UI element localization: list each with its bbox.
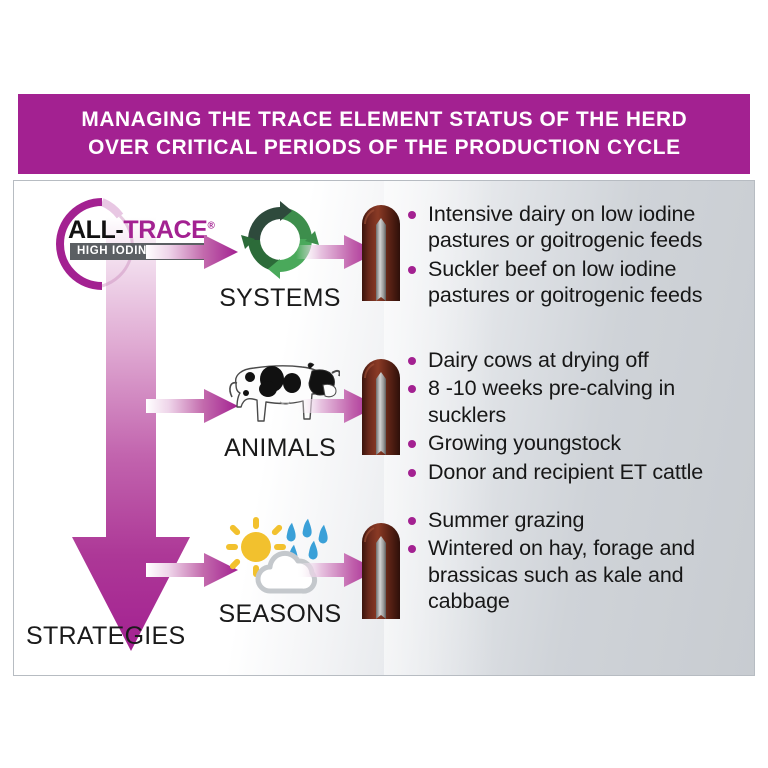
bolus-capsule-icon: [362, 205, 400, 303]
header-line-1: MANAGING THE TRACE ELEMENT STATUS OF THE…: [81, 106, 687, 134]
systems-label: SYSTEMS: [210, 284, 350, 313]
systems-bullets: Intensive dairy on low iodine pastures o…: [404, 201, 754, 311]
list-item: Suckler beef on low iodine pastures or g…: [404, 256, 754, 309]
list-item: Summer grazing: [404, 507, 754, 533]
row-animals: ANIMALS: [14, 349, 755, 499]
list-item: 8 -10 weeks pre-calving in sucklers: [404, 375, 754, 428]
bolus-capsule-icon: [362, 359, 400, 457]
animals-label: ANIMALS: [206, 434, 354, 463]
list-item: Growing youngstock: [404, 430, 754, 456]
list-item: Wintered on hay, forage and brassicas su…: [404, 535, 754, 614]
list-item: Intensive dairy on low iodine pastures o…: [404, 201, 754, 254]
row-systems: SYSTEMS: [14, 195, 755, 345]
header-line-2: OVER CRITICAL PERIODS OF THE PRODUCTION …: [88, 134, 680, 162]
infographic-canvas: MANAGING THE TRACE ELEMENT STATUS OF THE…: [0, 0, 768, 768]
bolus-capsule-icon: [362, 523, 400, 621]
list-item: Donor and recipient ET cattle: [404, 459, 754, 485]
list-item: Dairy cows at drying off: [404, 347, 754, 373]
main-panel: ALL-TRACE® HIGH IODINE CATTLE: [13, 180, 755, 676]
strategies-label: STRATEGIES: [26, 622, 186, 651]
header-banner: MANAGING THE TRACE ELEMENT STATUS OF THE…: [18, 94, 750, 174]
seasons-bullets: Summer grazing Wintered on hay, forage a…: [404, 507, 754, 617]
seasons-label: SEASONS: [204, 600, 356, 629]
animals-bullets: Dairy cows at drying off 8 -10 weeks pre…: [404, 347, 754, 487]
